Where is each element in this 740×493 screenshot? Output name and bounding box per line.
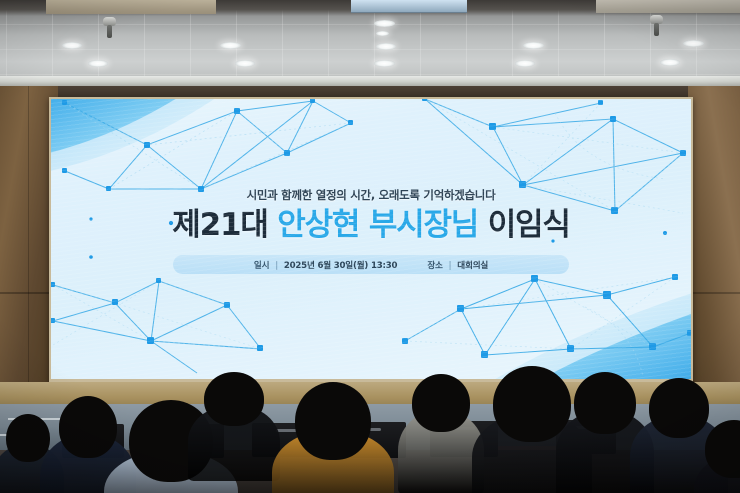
person-head (412, 374, 470, 432)
info-place: 장소 | 대회의실 (427, 259, 488, 271)
info-place-value: 대회의실 (457, 261, 488, 271)
ceiling-downlight (374, 20, 395, 27)
projection-screen[interactable]: 시민과 함께한 열정의 시간, 오래도록 기억하겠습니다 제21대 안상현 부시… (51, 99, 691, 379)
ceiling-projector-housing (351, 0, 467, 13)
ceiling-downlight (660, 59, 680, 66)
ceiling-panel-right (596, 0, 740, 13)
ceiling-panel-left (46, 0, 216, 14)
person-4-dark-back (188, 372, 280, 493)
decor-wave-bottom-right (405, 283, 691, 379)
person-10-right-edge (694, 420, 740, 493)
info-date-label: 일시 (254, 261, 269, 271)
ceiling-spotlight (103, 17, 116, 26)
projection-screen-frame: 시민과 함께한 열정의 시간, 오래도록 기억하겠습니다 제21대 안상현 부시… (49, 97, 693, 382)
info-separator: | (446, 261, 455, 271)
info-date-value: 2025년 6월 30일(월) 13:30 (284, 261, 397, 271)
title-segment-1: 안상현 부시장님 (277, 207, 478, 243)
ceiling-downlight (523, 42, 544, 49)
slide-sub-headline: 시민과 함께한 열정의 시간, 오래도록 기억하겠습니다 (51, 187, 691, 203)
ceiling-downlight (515, 60, 535, 67)
person-head (295, 382, 371, 460)
slide-main-title: 제21대 안상현 부시장님 이임식 (51, 209, 691, 242)
title-segment-0: 제21대 (172, 207, 277, 243)
slide-info-pill: 일시 | 2025년 6월 30일(월) 13:30 장소 | 대회의실 (173, 255, 569, 274)
ceiling-downlight (376, 43, 396, 50)
slide-content: 시민과 함께한 열정의 시간, 오래도록 기억하겠습니다 제21대 안상현 부시… (51, 187, 691, 274)
wall-panel-right (688, 86, 740, 406)
info-separator: | (272, 261, 281, 271)
wall-seam-horizontal (688, 292, 740, 294)
info-place-label: 장소 (427, 261, 442, 271)
ceiling-downlight (376, 31, 389, 36)
ceiling-downlight (374, 60, 395, 67)
ceiling (0, 0, 740, 88)
info-date: 일시 | 2025년 6월 30일(월) 13:30 (254, 259, 397, 271)
person-head (574, 372, 636, 434)
ceiling-downlight (88, 60, 108, 67)
wall-seam-vertical (28, 86, 29, 406)
screenshot-root: 시민과 함께한 열정의 시간, 오래도록 기억하겠습니다 제21대 안상현 부시… (0, 0, 740, 493)
ceiling-spotlight (650, 15, 663, 24)
ceiling-downlight (235, 60, 255, 67)
ceiling-downlight (220, 42, 241, 49)
person-head (204, 372, 264, 426)
ceiling-downlight (62, 42, 82, 49)
title-segment-2: 이임식 (478, 207, 570, 243)
ceiling-downlight (683, 40, 704, 47)
person-5-mustard (272, 382, 394, 493)
